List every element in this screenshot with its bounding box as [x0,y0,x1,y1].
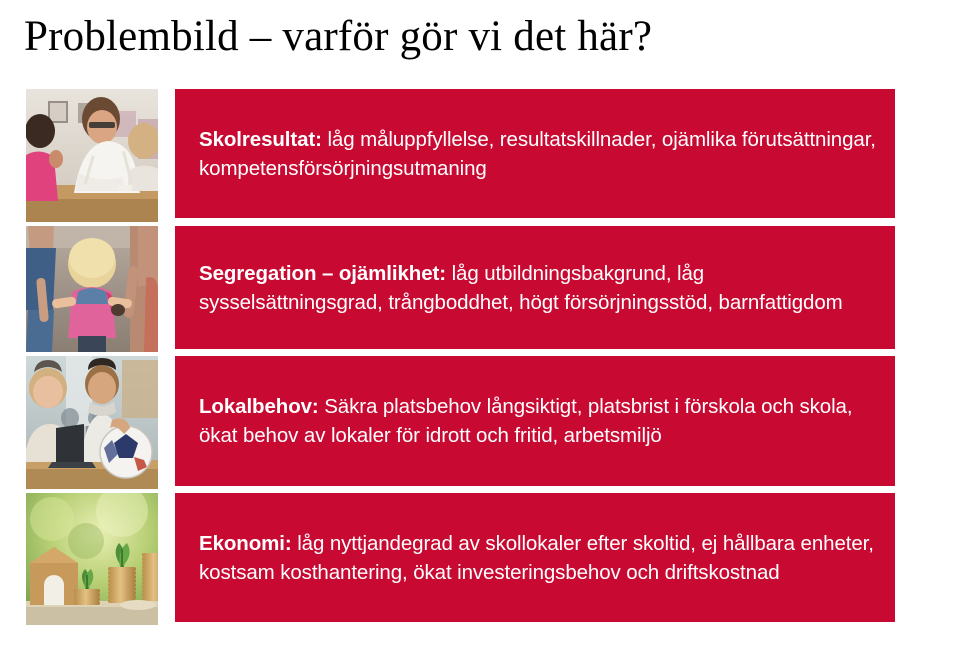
panel-lead: Lokalbehov: [199,395,319,418]
panel-text: Segregation – ojämlikhet: låg utbildning… [199,258,877,316]
panel-text: Ekonomi: låg nyttjandegrad av skollokale… [199,528,877,586]
page-title: Problembild – varför gör vi det här? [24,12,924,61]
info-panel: Ekonomi: låg nyttjandegrad av skollokale… [175,493,895,622]
family-photo-illustration [26,226,158,352]
panel-text: Skolresultat: låg måluppfyllelse, result… [199,124,877,182]
info-panel: Skolresultat: låg måluppfyllelse, result… [175,89,895,218]
content-row: Skolresultat: låg måluppfyllelse, result… [26,89,895,222]
panel-body: låg nyttjandegrad av skollokaler efter s… [199,531,874,583]
thumbnail-teacher-classroom [26,89,158,222]
content-row: Lokalbehov: Säkra platsbehov långsiktigt… [26,356,895,489]
thumbnail-family-holding-hands [26,226,158,352]
content-row: Ekonomi: låg nyttjandegrad av skollokale… [26,493,895,625]
content-row: Segregation – ojämlikhet: låg utbildning… [26,226,895,352]
thumbnail-coins-plants-house [26,493,158,625]
thumbnail-students-laptop-football [26,356,158,489]
students-photo-illustration [26,356,158,489]
panel-lead: Ekonomi: [199,531,292,554]
info-panel: Segregation – ojämlikhet: låg utbildning… [175,226,895,349]
classroom-photo-illustration [26,89,158,222]
panel-lead: Skolresultat: [199,127,322,150]
panel-lead: Segregation – ojämlikhet: [199,261,446,284]
panel-text: Lokalbehov: Säkra platsbehov långsiktigt… [199,392,877,450]
info-panel: Lokalbehov: Säkra platsbehov långsiktigt… [175,356,895,486]
economy-photo-illustration [26,493,158,625]
